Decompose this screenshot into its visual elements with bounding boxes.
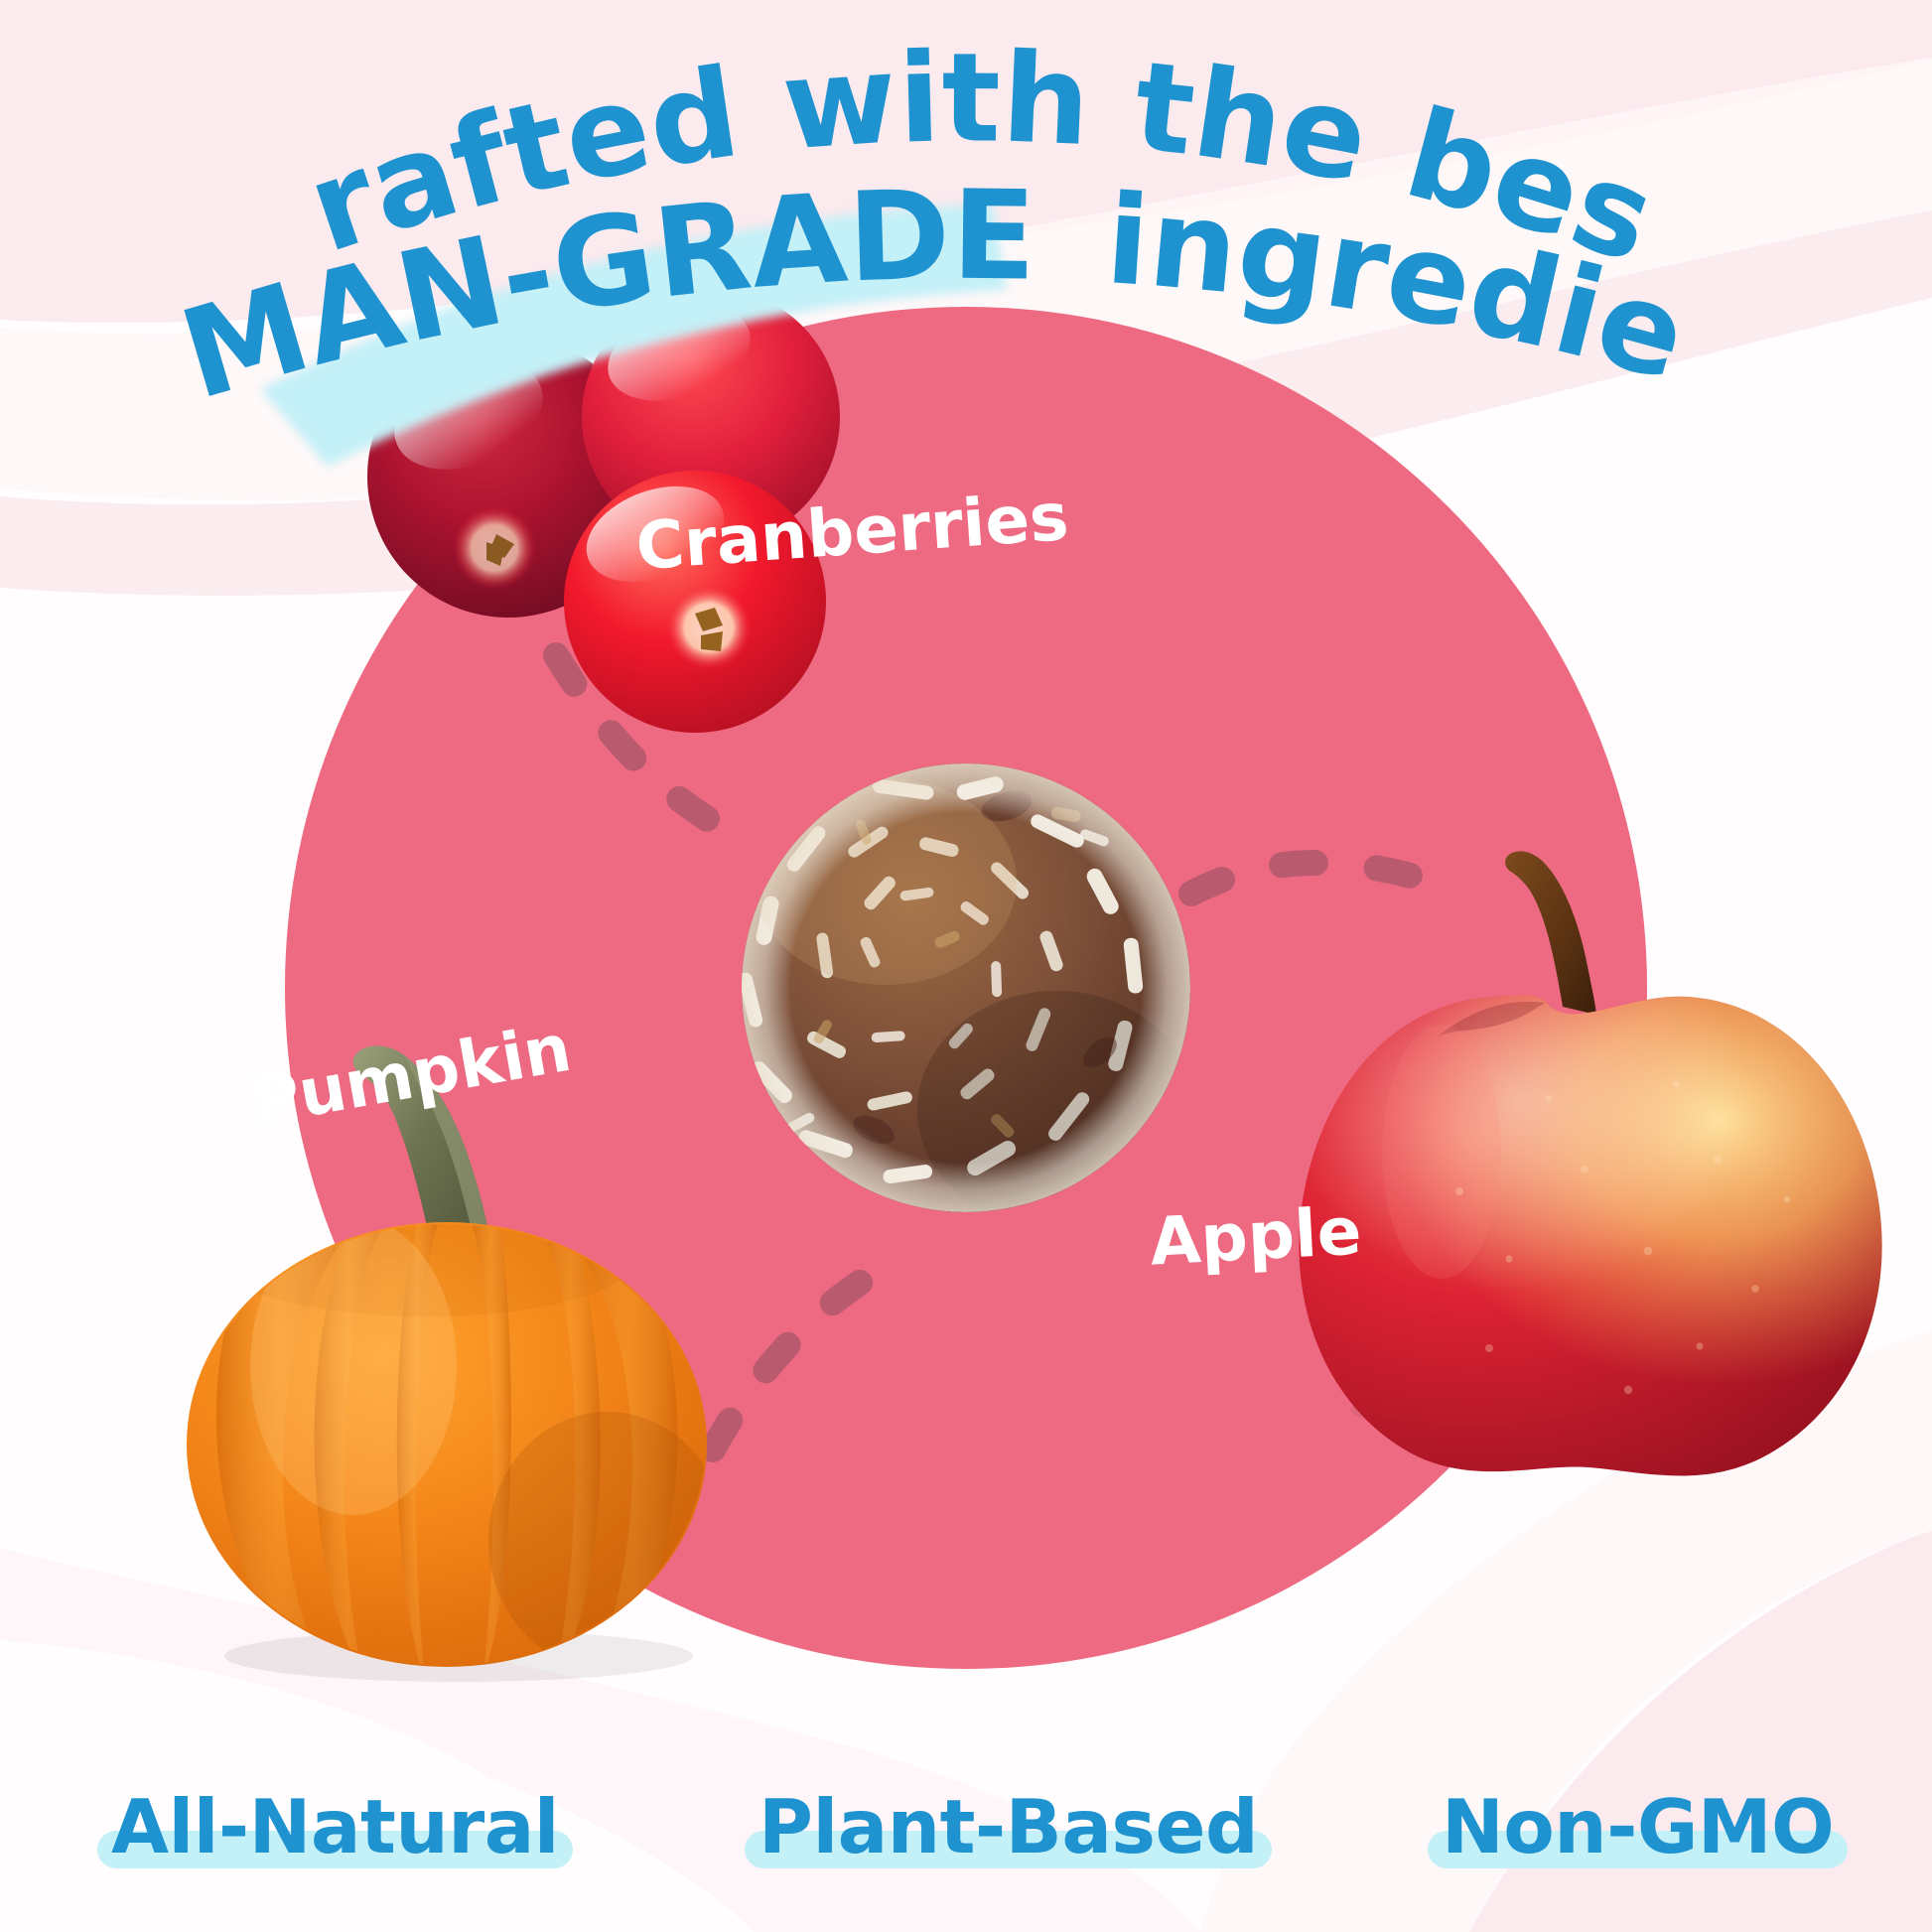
badge-label-plant-based: Plant-Based xyxy=(759,1783,1258,1870)
badge-plant-based: Plant-Based xyxy=(759,1783,1258,1870)
badge-label-all-natural: All-Natural xyxy=(111,1783,559,1870)
label-pumpkin: Pumpkin xyxy=(245,1010,576,1141)
badge-non-gmo: Non-GMO xyxy=(1442,1783,1834,1870)
badge-label-non-gmo: Non-GMO xyxy=(1442,1783,1834,1870)
label-apple: Apple xyxy=(1148,1193,1363,1281)
infographic-canvas: Crafted with the best HUMAN-GRADE ingred… xyxy=(0,0,1932,1932)
ingredient-labels: Cranberries Pumpkin Apple xyxy=(0,0,1932,1932)
badge-all-natural: All-Natural xyxy=(111,1783,559,1870)
label-cranberries: Cranberries xyxy=(633,479,1071,585)
